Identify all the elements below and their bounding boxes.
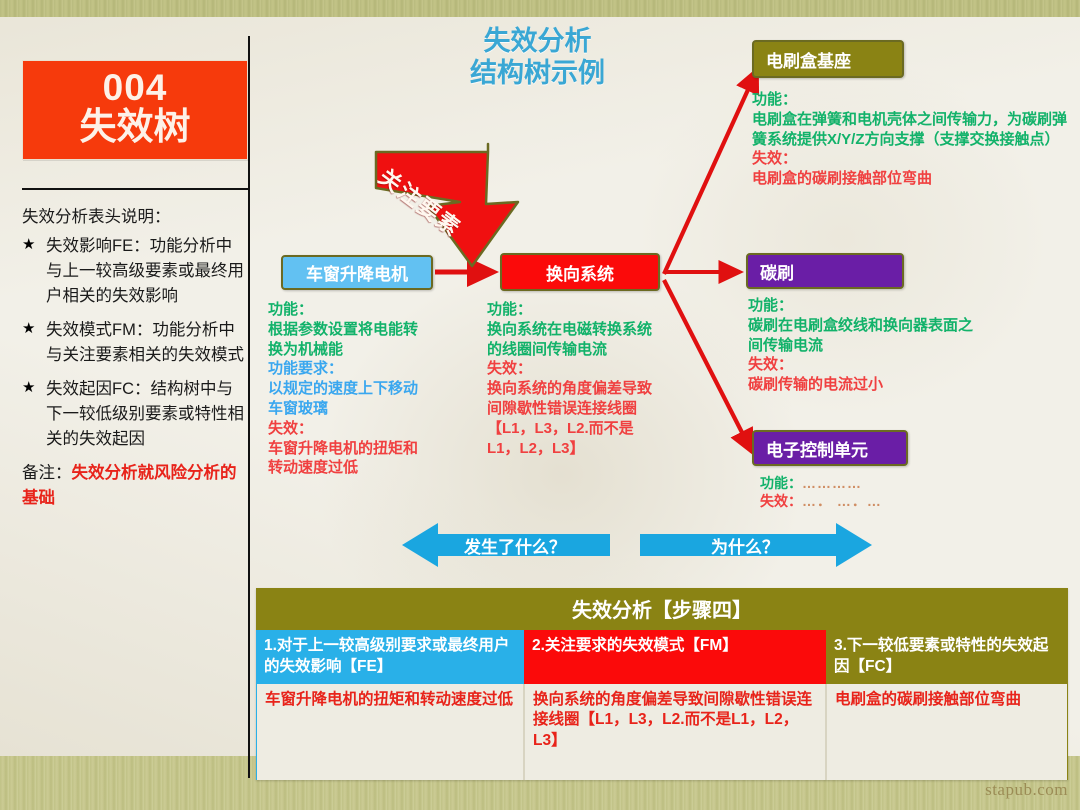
sidebar-note: 备注：失效分析就风险分析的基础 bbox=[22, 461, 248, 511]
failure-analysis-table: 失效分析【步骤四】 1.对于上一较高级别要求或最终用户的失效影响【FE】 2.关… bbox=[256, 588, 1068, 780]
arrow-why: 为什么？ bbox=[640, 521, 872, 569]
arrow-why-label: 为什么？ bbox=[640, 521, 872, 569]
watermark: stapub.com bbox=[985, 780, 1068, 800]
list-item: ★ 失效起因FC：结构树中与下一较低级别要素或特性相关的失效起因 bbox=[22, 377, 248, 452]
failure-text: …． …．… bbox=[802, 493, 882, 509]
sidebar: 004 失效树 失效分析表头说明： ★ 失效影响FE：功能分析中与上一较高级要素… bbox=[22, 60, 248, 511]
function-label: 功能： bbox=[748, 296, 978, 316]
function-text: 电刷盒在弹簧和电机壳体之间传输力，为碳刷弹簧系统提供X/Y/Z方向支撑（支撑交换… bbox=[752, 110, 1072, 150]
page-title: 失效分析 结构树示例 bbox=[470, 26, 605, 90]
star-icon: ★ bbox=[22, 377, 38, 452]
function-label: 功能： bbox=[760, 475, 802, 491]
page-title-line1: 失效分析 bbox=[470, 26, 605, 58]
table-header-row: 1.对于上一较高级别要求或最终用户的失效影响【FE】 2.关注要求的失效模式【F… bbox=[256, 630, 1068, 684]
slide-number: 004 bbox=[23, 69, 247, 107]
sidebar-heading: 失效分析表头说明： bbox=[22, 206, 248, 230]
star-icon: ★ bbox=[22, 318, 38, 368]
node-brush-holder-base[interactable]: 电刷盒基座 bbox=[752, 40, 904, 78]
table-cell-fe-value: 车窗升降电机的扭矩和转动速度过低 bbox=[256, 684, 524, 780]
list-item-label: 失效起因FC：结构树中与下一较低级别要素或特性相关的失效起因 bbox=[46, 377, 248, 452]
slide-title: 失效树 bbox=[23, 107, 247, 146]
failure-text: 电刷盒的碳刷接触部位弯曲 bbox=[752, 169, 1072, 189]
function-label: 功能： bbox=[268, 300, 428, 320]
table-cell-fc-value: 电刷盒的碳刷接触部位弯曲 bbox=[826, 684, 1068, 780]
failure-label: 失效： bbox=[268, 419, 428, 439]
list-item-label: 失效影响FE：功能分析中与上一较高级要素或最终用户相关的失效影响 bbox=[46, 234, 248, 309]
sidebar-rule bbox=[22, 188, 248, 190]
function-text: 根据参数设置将电能转换为机械能 bbox=[268, 320, 428, 360]
node-label: 电子控制单元 bbox=[766, 436, 868, 461]
list-item-label: 失效模式FM：功能分析中与关注要素相关的失效模式 bbox=[46, 318, 248, 368]
node-carbon-brush[interactable]: 碳刷 bbox=[746, 253, 904, 289]
table-column-header-fm: 2.关注要求的失效模式【FM】 bbox=[524, 630, 826, 684]
description-commutation-system: 功能： 换向系统在电磁转换系统的线圈间传输电流 失效： 换向系统的角度偏差导致间… bbox=[487, 300, 662, 458]
node-label: 电刷盒基座 bbox=[766, 47, 851, 72]
description-brush-holder-base: 功能： 电刷盒在弹簧和电机壳体之间传输力，为碳刷弹簧系统提供X/Y/Z方向支撑（… bbox=[752, 90, 1072, 189]
table-column-header-fe: 1.对于上一较高级别要求或最终用户的失效影响【FE】 bbox=[256, 630, 524, 684]
table-column-header-fc: 3.下一较低要素或特性的失效起因【FC】 bbox=[826, 630, 1068, 684]
node-label: 碳刷 bbox=[760, 259, 794, 284]
arrow-what-happened-label: 发生了什么？ bbox=[402, 521, 610, 569]
failure-label: 失效： bbox=[752, 149, 1072, 169]
failure-text: 车窗升降电机的扭矩和转动速度过低 bbox=[268, 439, 428, 479]
sidebar-divider bbox=[248, 36, 250, 778]
failure-label: 失效： bbox=[760, 493, 802, 509]
function-label: 功能： bbox=[752, 90, 1072, 110]
failure-label: 失效： bbox=[748, 355, 978, 375]
table-title: 失效分析【步骤四】 bbox=[256, 588, 1068, 630]
node-electronic-control-unit[interactable]: 电子控制单元 bbox=[752, 430, 908, 466]
failure-label: 失效： bbox=[487, 359, 662, 379]
description-carbon-brush: 功能： 碳刷在电刷盒绞线和换向器表面之间传输电流 失效： 碳刷传输的电流过小 bbox=[748, 296, 978, 395]
function-text: ………… bbox=[802, 475, 862, 491]
function-text: 换向系统在电磁转换系统的线圈间传输电流 bbox=[487, 320, 662, 360]
table-row: 车窗升降电机的扭矩和转动速度过低 换向系统的角度偏差导致间隙歇性错误连接线圈【L… bbox=[256, 684, 1068, 780]
arrow-what-happened: 发生了什么？ bbox=[402, 521, 610, 569]
sidebar-note-label: 备注： bbox=[22, 464, 72, 482]
star-icon: ★ bbox=[22, 234, 38, 309]
list-item: ★ 失效影响FE：功能分析中与上一较高级要素或最终用户相关的失效影响 bbox=[22, 234, 248, 309]
requirement-label: 功能要求： bbox=[268, 359, 428, 379]
function-text: 碳刷在电刷盒绞线和换向器表面之间传输电流 bbox=[748, 316, 978, 356]
function-label: 功能： bbox=[487, 300, 662, 320]
requirement-text: 以规定的速度上下移动车窗玻璃 bbox=[268, 379, 428, 419]
slide-title-box: 004 失效树 bbox=[22, 60, 248, 160]
failure-text: 换向系统的角度偏差导致间隙歇性错误连接线圈【L1，L3，L2.而不是L1，L2，… bbox=[487, 379, 662, 458]
failure-text: 碳刷传输的电流过小 bbox=[748, 375, 978, 395]
page-title-line2: 结构树示例 bbox=[470, 58, 605, 90]
table-cell-fm-value: 换向系统的角度偏差导致间隙歇性错误连接线圈【L1，L3，L2.而不是L1，L2，… bbox=[524, 684, 826, 780]
top-decorative-band bbox=[0, 0, 1080, 17]
list-item: ★ 失效模式FM：功能分析中与关注要素相关的失效模式 bbox=[22, 318, 248, 368]
description-electronic-control-unit: 功能：………… 失效：…． …．… bbox=[760, 474, 990, 511]
description-window-lift-motor: 功能： 根据参数设置将电能转换为机械能 功能要求： 以规定的速度上下移动车窗玻璃… bbox=[268, 300, 428, 478]
